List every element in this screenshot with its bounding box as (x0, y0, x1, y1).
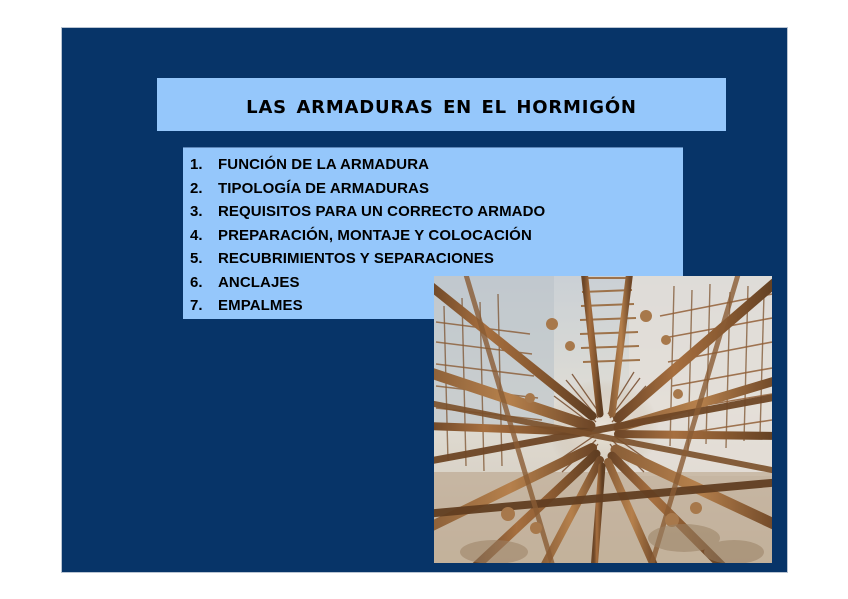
list-item-number: 5. (183, 247, 218, 271)
list-item-label: RECUBRIMIENTOS Y SEPARACIONES (218, 247, 494, 271)
list-item: 2. TIPOLOGÍA DE ARMADURAS (183, 177, 683, 201)
list-item-number: 7. (183, 294, 218, 318)
list-item-number: 6. (183, 271, 218, 295)
list-item: 5. RECUBRIMIENTOS Y SEPARACIONES (183, 247, 683, 271)
list-item-label: ANCLAJES (218, 271, 300, 295)
list-item: 4. PREPARACIÓN, MONTAJE Y COLOCACIÓN (183, 224, 683, 248)
page-title: LAS ARMADURAS EN EL HORMIGÓN (246, 90, 637, 119)
list-item: 1. FUNCIÓN DE LA ARMADURA (183, 153, 683, 177)
list-item-number: 1. (183, 153, 218, 177)
slide-title-banner: LAS ARMADURAS EN EL HORMIGÓN (157, 78, 726, 131)
list-item-label: TIPOLOGÍA DE ARMADURAS (218, 177, 429, 201)
presentation-slide: LAS ARMADURAS EN EL HORMIGÓN 1. FUNCIÓN … (62, 28, 787, 572)
rebar-cage-photo (434, 276, 772, 563)
list-item-number: 2. (183, 177, 218, 201)
list-item-label: REQUISITOS PARA UN CORRECTO ARMADO (218, 200, 545, 224)
list-item: 3. REQUISITOS PARA UN CORRECTO ARMADO (183, 200, 683, 224)
list-item-number: 3. (183, 200, 218, 224)
list-item-label: FUNCIÓN DE LA ARMADURA (218, 153, 429, 177)
list-item-label: PREPARACIÓN, MONTAJE Y COLOCACIÓN (218, 224, 532, 248)
page-canvas: LAS ARMADURAS EN EL HORMIGÓN 1. FUNCIÓN … (0, 0, 848, 599)
list-item-number: 4. (183, 224, 218, 248)
list-item-label: EMPALMES (218, 294, 303, 318)
